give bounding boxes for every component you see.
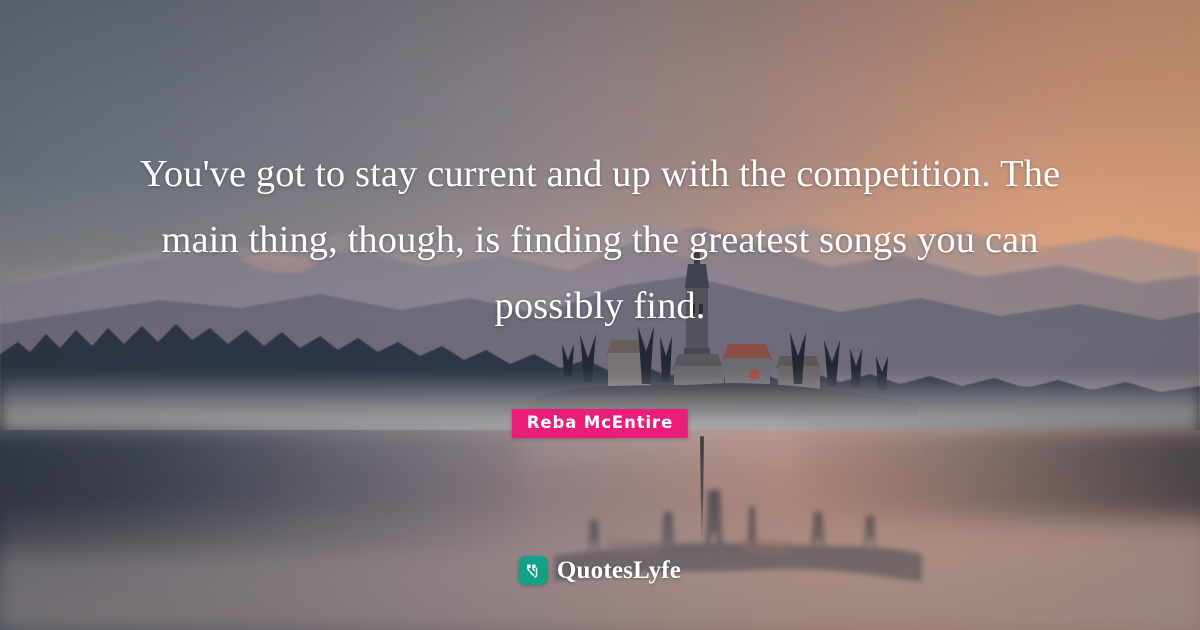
quote-text: You've got to stay current and up with t… bbox=[0, 141, 1200, 339]
brand-name: QuotesLyfe bbox=[557, 557, 681, 585]
brand-logo[interactable]: QuotesLyfe bbox=[519, 556, 681, 585]
author-badge[interactable]: Reba McEntire bbox=[512, 409, 688, 438]
quote-mark-icon bbox=[519, 556, 548, 585]
card-content: You've got to stay current and up with t… bbox=[0, 0, 1200, 630]
quote-card: You've got to stay current and up with t… bbox=[0, 0, 1200, 630]
